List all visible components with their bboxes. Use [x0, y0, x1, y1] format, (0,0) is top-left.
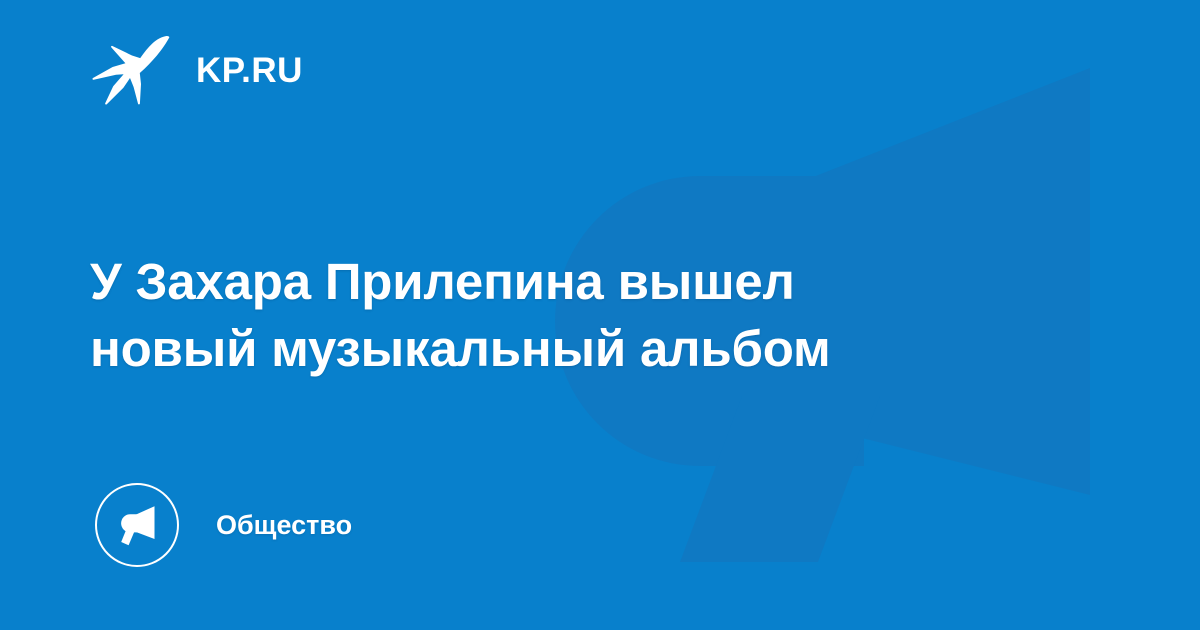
headline: У Захара Прилепина вышел новый музыкальн… — [90, 248, 970, 382]
megaphone-icon — [114, 502, 160, 548]
headline-line-1: У Захара Прилепина вышел — [90, 248, 970, 315]
headline-line-2: новый музыкальный альбом — [90, 315, 970, 382]
brand-wordmark: KP.RU — [196, 53, 303, 88]
category-badge[interactable]: Общество — [95, 483, 352, 567]
category-icon-circle — [95, 483, 179, 567]
swallow-bird-icon — [92, 34, 170, 106]
social-share-card: KP.RU У Захара Прилепина вышел новый муз… — [0, 0, 1200, 630]
brand-lockup[interactable]: KP.RU — [92, 33, 303, 107]
category-label: Общество — [216, 512, 352, 539]
